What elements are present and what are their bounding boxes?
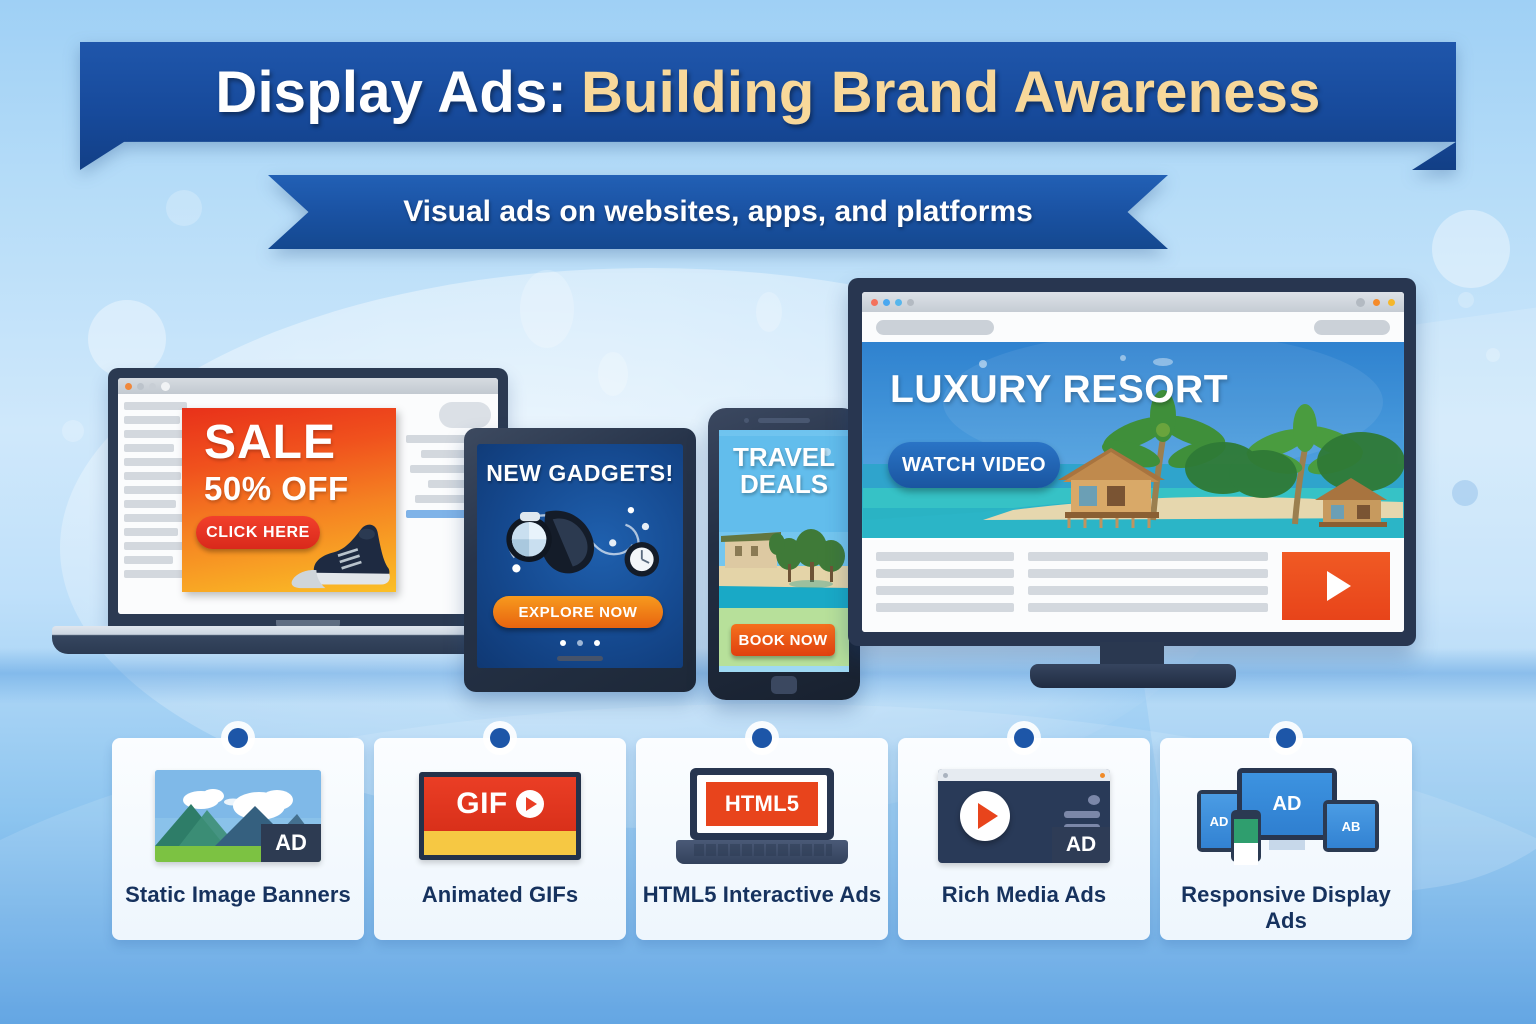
tablet-frame: NEW GADGETS! bbox=[464, 428, 696, 692]
ad-badge: AD bbox=[1052, 827, 1110, 863]
explore-now-button[interactable]: EXPLORE NOW bbox=[493, 596, 663, 628]
travel-headline: TRAVEL DEALS bbox=[719, 444, 849, 499]
carousel-dot-2-icon[interactable] bbox=[577, 640, 583, 646]
bg-circle-8 bbox=[1432, 210, 1510, 288]
phone-home-button[interactable] bbox=[771, 676, 797, 694]
card-rich-media-ads[interactable]: AD Rich Media Ads bbox=[898, 738, 1150, 940]
phone-screen[interactable]: TRAVEL DEALS BOOK NOW bbox=[719, 430, 849, 672]
video-player-icon: AD bbox=[938, 769, 1110, 863]
laptop-keyboard-icon bbox=[692, 844, 832, 856]
card-responsive-display-ads[interactable]: AD AD AB Responsive Displ bbox=[1160, 738, 1412, 940]
play-icon bbox=[960, 791, 1010, 841]
window-dot-gray-icon bbox=[943, 773, 948, 778]
placeholder-bar bbox=[876, 569, 1014, 578]
card-art: AD AD AB bbox=[1191, 764, 1381, 868]
placeholder-bar bbox=[1028, 603, 1268, 612]
pin-icon bbox=[752, 728, 772, 748]
infographic-canvas: Display Ads: Building Brand Awareness Vi… bbox=[0, 0, 1536, 1024]
window-right-controls[interactable] bbox=[1356, 298, 1395, 307]
window-dot-white-icon bbox=[161, 382, 170, 391]
content-column-right bbox=[1028, 552, 1268, 620]
bg-circle-2 bbox=[166, 190, 202, 226]
placeholder-oval bbox=[439, 402, 491, 428]
video-thumbnail[interactable] bbox=[1282, 552, 1390, 620]
card-label: Animated GIFs bbox=[422, 882, 579, 908]
browser-chrome-icon bbox=[938, 769, 1110, 781]
bg-circle-1 bbox=[88, 300, 166, 378]
page-title: Display Ads: Building Brand Awareness bbox=[80, 42, 1456, 142]
multi-device-icon: AD AD AB bbox=[1191, 766, 1381, 866]
window-dot-blue-icon[interactable] bbox=[883, 299, 890, 306]
pin-icon bbox=[490, 728, 510, 748]
address-bar-placeholder[interactable] bbox=[876, 320, 994, 335]
laptop-screen-icon: HTML5 bbox=[697, 775, 827, 833]
laptop-icon: HTML5 bbox=[676, 768, 848, 864]
monitor-device: LUXURY RESORT WATCH VIDEO bbox=[848, 278, 1416, 690]
gadgets-headline: NEW GADGETS! bbox=[477, 460, 683, 487]
browser-chrome bbox=[118, 378, 498, 394]
sale-subheadline: 50% OFF bbox=[204, 470, 349, 508]
laptop-device: SALE 50% OFF CLICK HERE bbox=[108, 368, 508, 668]
placeholder-bar bbox=[1028, 552, 1268, 561]
window-dot-gray-icon[interactable] bbox=[907, 299, 914, 306]
toolbar-button-placeholder[interactable] bbox=[1314, 320, 1390, 335]
placeholder-bar bbox=[124, 430, 190, 438]
placeholder-bar bbox=[124, 444, 174, 452]
placeholder-bar bbox=[124, 500, 176, 508]
card-art: GIF bbox=[405, 764, 595, 868]
page-content-rows bbox=[862, 540, 1404, 632]
book-now-button[interactable]: BOOK NOW bbox=[731, 624, 835, 656]
phone-camera-icon bbox=[744, 418, 749, 423]
ad-format-cards: AD Static Image Banners GIF Animated GIF… bbox=[112, 738, 1422, 940]
watch-video-button[interactable]: WATCH VIDEO bbox=[888, 442, 1060, 488]
subtitle-ribbon: Visual ads on websites, apps, and platfo… bbox=[268, 175, 1168, 249]
placeholder-bar bbox=[124, 402, 187, 410]
window-dot-gray-icon bbox=[137, 383, 144, 390]
luxury-resort-ad[interactable]: LUXURY RESORT WATCH VIDEO bbox=[862, 342, 1404, 538]
placeholder-bar bbox=[124, 556, 173, 564]
browser-chrome bbox=[862, 292, 1404, 312]
html5-badge: HTML5 bbox=[706, 782, 818, 826]
resort-headline: LUXURY RESORT bbox=[890, 368, 1228, 412]
card-animated-gifs[interactable]: GIF Animated GIFs bbox=[374, 738, 626, 940]
monitor-screen: LUXURY RESORT WATCH VIDEO bbox=[862, 292, 1404, 632]
card-label: Rich Media Ads bbox=[942, 882, 1106, 908]
window-dot-orange-icon[interactable] bbox=[1373, 299, 1380, 306]
placeholder-bar bbox=[1028, 569, 1268, 578]
tablet-home-bar bbox=[557, 656, 603, 661]
pin-icon bbox=[1014, 728, 1034, 748]
placeholder-bar bbox=[1088, 795, 1100, 805]
placeholder-bar bbox=[124, 458, 187, 466]
travel-headline-line2: DEALS bbox=[740, 469, 828, 499]
pin-icon bbox=[228, 728, 248, 748]
card-art: HTML5 bbox=[667, 764, 857, 868]
phone-small-icon bbox=[1231, 810, 1261, 862]
window-dot-gray2-icon[interactable] bbox=[1356, 298, 1365, 307]
ad-badge: AD bbox=[261, 824, 321, 862]
placeholder-bar bbox=[1064, 811, 1100, 818]
gadgets-illustration-icon bbox=[485, 492, 675, 592]
content-column-left bbox=[876, 552, 1014, 620]
carousel-dot-1-icon[interactable] bbox=[560, 640, 566, 646]
gif-banner-top: GIF bbox=[424, 777, 576, 831]
sale-display-ad[interactable]: SALE 50% OFF CLICK HERE bbox=[182, 408, 396, 592]
bg-circle-9 bbox=[1458, 292, 1474, 308]
bg-circle-10 bbox=[1486, 348, 1500, 362]
play-icon bbox=[516, 790, 544, 818]
window-dot-red-icon[interactable] bbox=[871, 299, 878, 306]
gif-banner-bottom bbox=[424, 831, 576, 855]
card-art: AD bbox=[929, 764, 1119, 868]
gif-badge: GIF bbox=[456, 787, 508, 821]
window-dot-cyan-icon[interactable] bbox=[895, 299, 902, 306]
monitor-stand bbox=[1030, 664, 1236, 688]
ad-badge: AD bbox=[1273, 793, 1302, 816]
bg-circle-11 bbox=[1452, 480, 1478, 506]
window-dot-orange-icon bbox=[1100, 773, 1105, 778]
card-label: Static Image Banners bbox=[125, 882, 351, 908]
play-icon[interactable] bbox=[1327, 571, 1351, 601]
laptop-lid-icon: HTML5 bbox=[690, 768, 834, 840]
tablet-device: NEW GADGETS! bbox=[464, 428, 696, 692]
monitor-small-stand bbox=[1269, 840, 1305, 850]
card-art: AD bbox=[143, 764, 333, 868]
page-title-accent: Building Brand Awareness bbox=[581, 59, 1321, 126]
page-subtitle: Visual ads on websites, apps, and platfo… bbox=[403, 195, 1033, 229]
browser-toolbar bbox=[862, 312, 1404, 342]
sale-headline: SALE bbox=[204, 420, 336, 466]
window-controls[interactable] bbox=[871, 299, 914, 306]
placeholder-bar bbox=[124, 570, 184, 578]
placeholder-bar bbox=[876, 603, 1014, 612]
window-dot-orange-icon bbox=[125, 383, 132, 390]
placeholder-bar bbox=[124, 416, 180, 424]
smartphone-device: TRAVEL DEALS BOOK NOW bbox=[708, 408, 860, 700]
window-dot-gray2-icon bbox=[149, 383, 156, 390]
placeholder-bar bbox=[876, 552, 1014, 561]
phone-speaker-icon bbox=[758, 418, 810, 423]
placeholder-bar bbox=[124, 514, 186, 522]
tablet-screen[interactable]: NEW GADGETS! bbox=[477, 444, 683, 668]
placeholder-bar bbox=[124, 528, 178, 536]
placeholder-bar bbox=[124, 486, 188, 494]
placeholder-bar bbox=[876, 586, 1014, 595]
bg-circle-6 bbox=[598, 352, 628, 396]
card-label: Responsive Display Ads bbox=[1160, 882, 1412, 934]
page-title-primary: Display Ads: bbox=[215, 59, 567, 126]
bg-circle-7 bbox=[756, 292, 782, 332]
placeholder-bar bbox=[124, 472, 181, 480]
placeholder-bar bbox=[1028, 586, 1268, 595]
carousel-dots[interactable] bbox=[477, 640, 683, 646]
gif-banner-icon: GIF bbox=[419, 772, 581, 860]
tablet-small-screen-2: AB bbox=[1327, 804, 1375, 848]
placeholder-bar bbox=[124, 542, 188, 550]
phone-frame: TRAVEL DEALS BOOK NOW bbox=[708, 408, 860, 700]
card-static-image-banners[interactable]: AD Static Image Banners bbox=[112, 738, 364, 940]
travel-headline-line1: TRAVEL bbox=[733, 442, 835, 472]
card-html5-interactive-ads[interactable]: HTML5 HTML5 Interactive Ads bbox=[636, 738, 888, 940]
carousel-dot-3-icon[interactable] bbox=[594, 640, 600, 646]
landscape-thumbnail-icon: AD bbox=[155, 770, 321, 862]
laptop-lid: SALE 50% OFF CLICK HERE bbox=[108, 368, 508, 630]
window-dot-yellow-icon[interactable] bbox=[1388, 299, 1395, 306]
tablet-small-icon-2: AB bbox=[1323, 800, 1379, 852]
bg-circle-3 bbox=[62, 420, 84, 442]
phone-small-screen bbox=[1234, 819, 1258, 865]
pin-icon bbox=[1276, 728, 1296, 748]
bg-circle-5 bbox=[520, 270, 574, 348]
card-label: HTML5 Interactive Ads bbox=[643, 882, 881, 908]
sneaker-icon bbox=[284, 516, 392, 590]
monitor-bezel: LUXURY RESORT WATCH VIDEO bbox=[848, 278, 1416, 646]
laptop-screen: SALE 50% OFF CLICK HERE bbox=[118, 378, 498, 614]
